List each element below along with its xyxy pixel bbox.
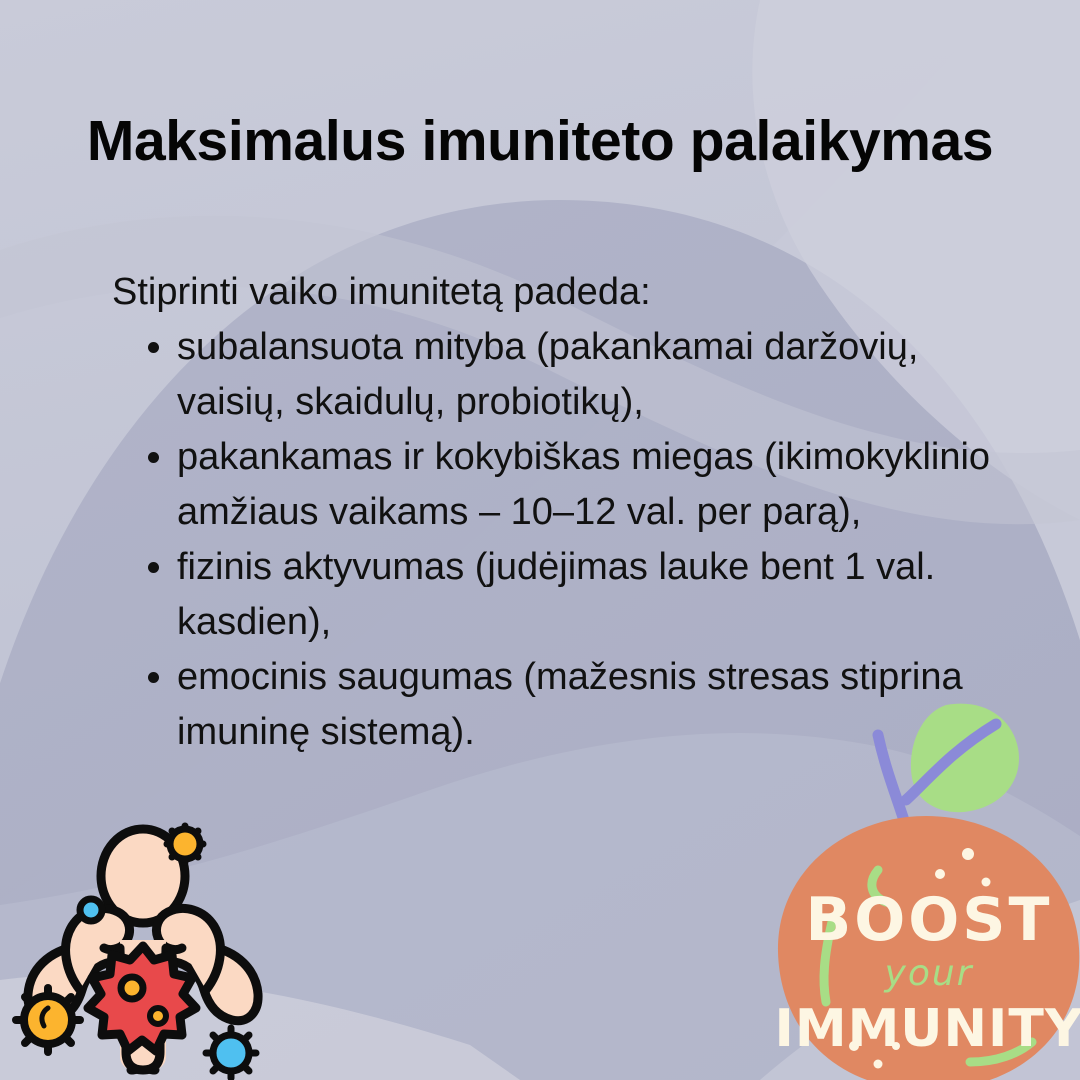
bullet-dot-icon xyxy=(148,342,159,353)
badge-line-your: your xyxy=(884,953,974,994)
content-block: Stiprinti vaiko imunitetą padeda: subala… xyxy=(108,265,998,760)
page-title: Maksimalus imuniteto palaikymas xyxy=(0,112,1080,172)
leaf-icon xyxy=(911,704,1019,813)
list-item-text: subalansuota mityba (pakankamai daržovių… xyxy=(177,326,918,423)
intro-text: Stiprinti vaiko imunitetą padeda: xyxy=(112,265,998,320)
germ-orange-small-icon xyxy=(167,826,203,862)
bullet-dot-icon xyxy=(148,562,159,573)
list-item: fizinis aktyvumas (judėjimas lauke bent … xyxy=(146,540,998,650)
badge-line-immunity: IMMUNITY xyxy=(774,999,1080,1059)
list-item-text: fizinis aktyvumas (judėjimas lauke bent … xyxy=(177,546,935,643)
germ-orange-large-icon xyxy=(16,988,80,1052)
list-item: pakankamas ir kokybiškas miegas (ikimoky… xyxy=(146,430,998,540)
germ-blue-icon xyxy=(206,1028,256,1078)
list-item: subalansuota mityba (pakankamai daržovių… xyxy=(146,320,998,430)
badge-line-boost: BOOST xyxy=(806,885,1053,955)
list-item-text: pakankamas ir kokybiškas miegas (ikimoky… xyxy=(177,436,990,533)
boost-immunity-orange-badge: BOOST your IMMUNITY xyxy=(774,690,1080,1080)
strong-body-immunity-illustration xyxy=(8,820,278,1080)
slide-canvas: Maksimalus imuniteto palaikymas Stiprint… xyxy=(0,0,1080,1080)
bullet-dot-icon xyxy=(148,672,159,683)
bullet-dot-icon xyxy=(148,452,159,463)
germ-blue-dot-icon xyxy=(80,899,102,921)
